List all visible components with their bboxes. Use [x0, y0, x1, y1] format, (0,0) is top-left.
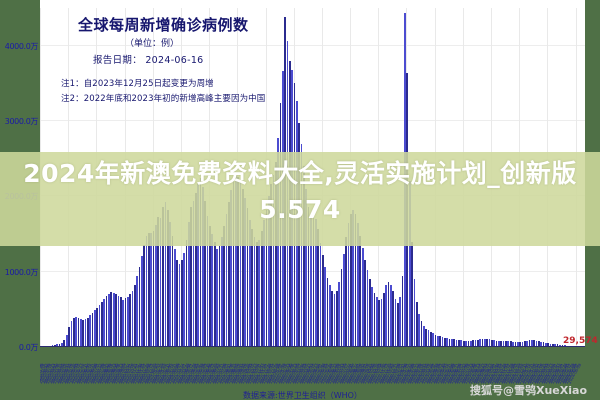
y-axis-tick-label: 0.0万	[0, 342, 40, 353]
y-axis-tick: 3000.0万	[0, 116, 40, 126]
x-axis-line	[40, 346, 585, 347]
screenshot-root: 0.0万1000.0万2000.0万3000.0万4000.0万 全球每周新增确…	[0, 0, 600, 400]
y-axis-tick-label: 4000.0万	[0, 41, 40, 52]
chart-unit-label: （单位：例）	[125, 36, 179, 49]
y-axis-tick: 1000.0万	[0, 267, 40, 277]
chart-title: 全球每周新增确诊病例数	[78, 14, 249, 35]
chart-note-2: 注2：2022年底和2023年初的新增高峰主要因为中国	[61, 92, 265, 104]
data-source-label: 数据来源:世界卫生组织（WHO）	[243, 390, 362, 400]
chart-note-1: 注1：自2023年12月25日起变更为周增	[61, 77, 214, 89]
y-axis-tick: 0.0万	[0, 342, 40, 352]
overlay-banner-text: 2024年新澳免费资料大全,灵活实施计划_创新版5.574	[0, 156, 600, 229]
y-axis-tick-label: 1000.0万	[0, 267, 40, 278]
last-value-label: 29,574	[563, 336, 598, 346]
watermark-label: 搜狐号@雪鸮XueXiao	[470, 382, 587, 398]
y-axis-tick-label: 3000.0万	[0, 116, 40, 127]
y-axis-tick: 4000.0万	[0, 41, 40, 51]
report-date-label: 报告日期： 2024-06-16	[93, 52, 204, 66]
